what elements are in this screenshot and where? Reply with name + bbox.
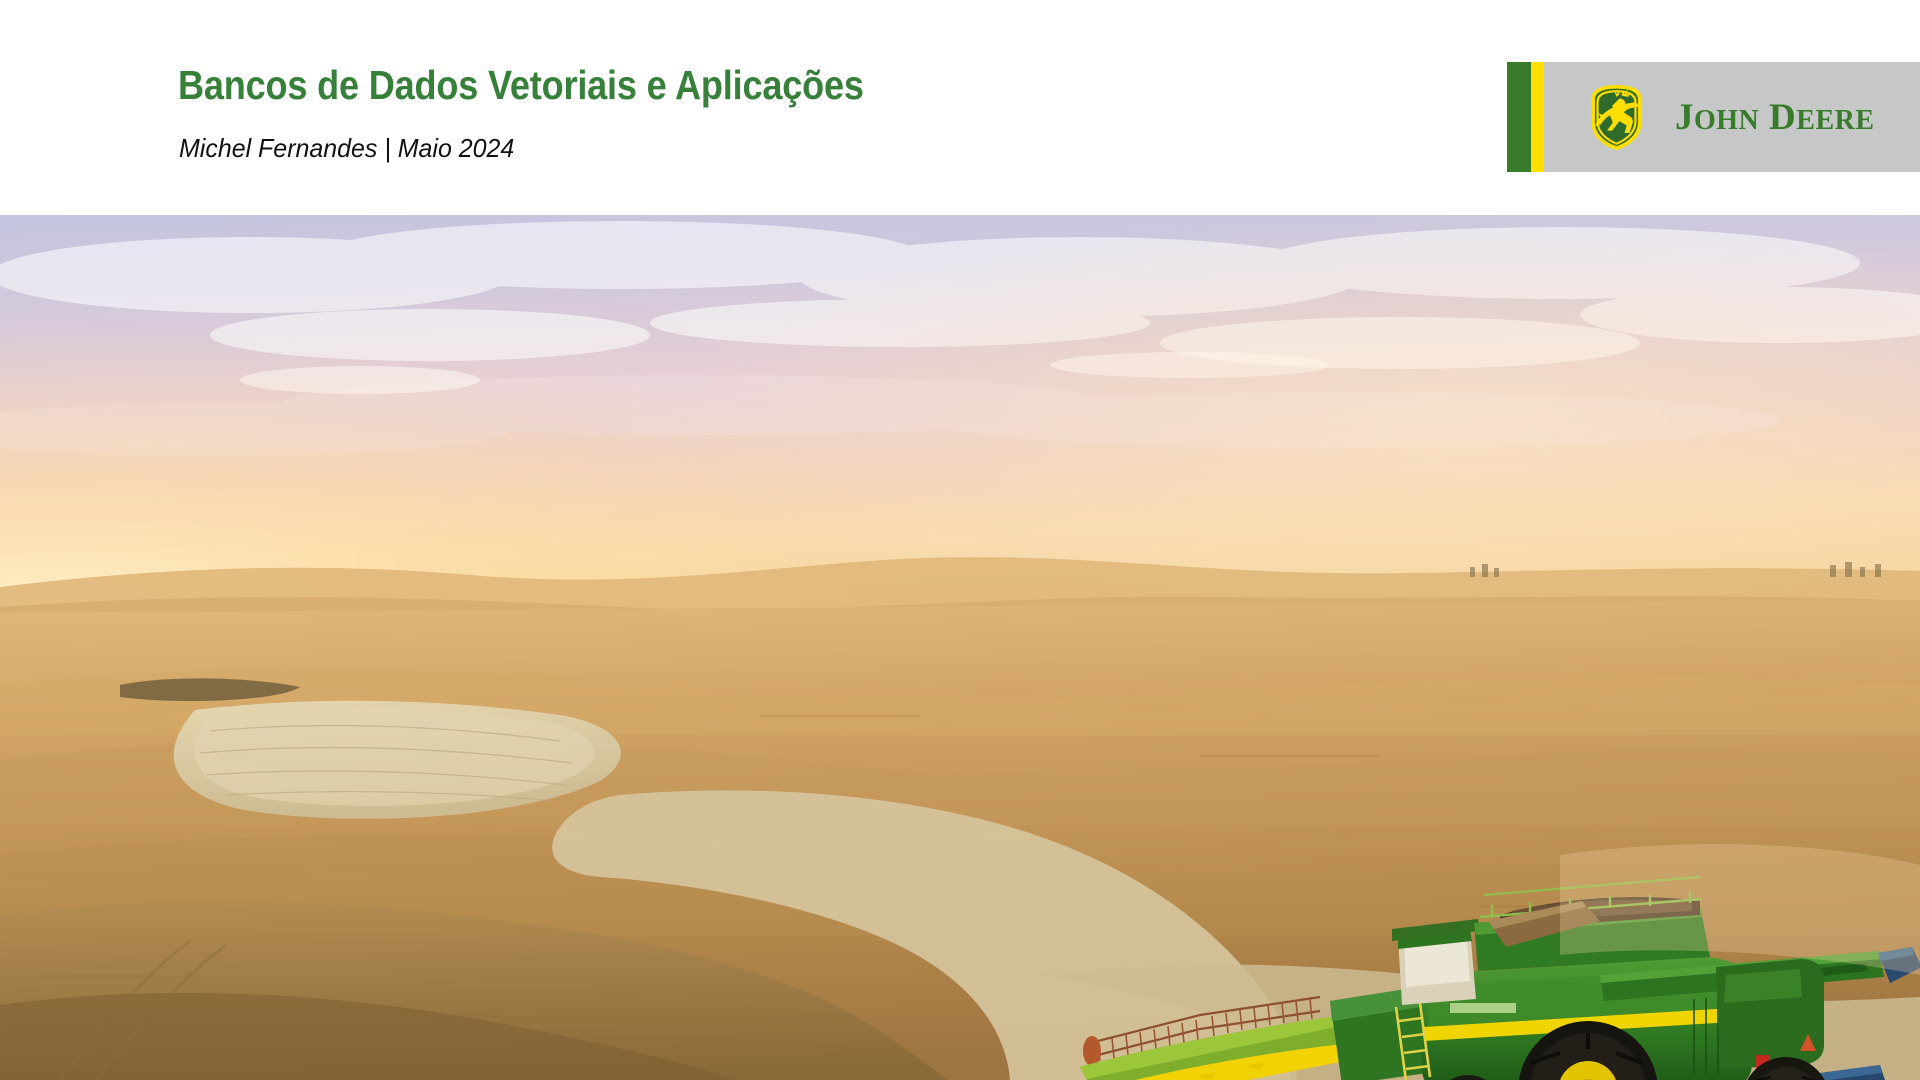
wordmark-j: J bbox=[1675, 97, 1694, 138]
logo-gray-panel: JOHN DEERE bbox=[1544, 62, 1920, 172]
field-sunset-illustration bbox=[0, 215, 1920, 1080]
hero-photo-harvester-field bbox=[0, 215, 1920, 1080]
leaping-deer-icon bbox=[1580, 81, 1653, 154]
logo-yellow-bar bbox=[1531, 62, 1544, 172]
wordmark-eere: EERE bbox=[1796, 105, 1874, 136]
presentation-slide: Bancos de Dados Vetoriais e Aplicações M… bbox=[0, 0, 1920, 1080]
wordmark-ohn: OHN bbox=[1694, 105, 1759, 136]
logo-green-bar bbox=[1507, 62, 1531, 172]
john-deere-logo: JOHN DEERE bbox=[1507, 62, 1920, 172]
wordmark-d: D bbox=[1769, 97, 1796, 138]
slide-subtitle-author-date: Michel Fernandes | Maio 2024 bbox=[179, 133, 514, 164]
page-title: Bancos de Dados Vetoriais e Aplicações bbox=[178, 62, 864, 109]
slide-header: Bancos de Dados Vetoriais e Aplicações M… bbox=[0, 0, 1920, 215]
john-deere-wordmark: JOHN DEERE bbox=[1675, 99, 1875, 136]
